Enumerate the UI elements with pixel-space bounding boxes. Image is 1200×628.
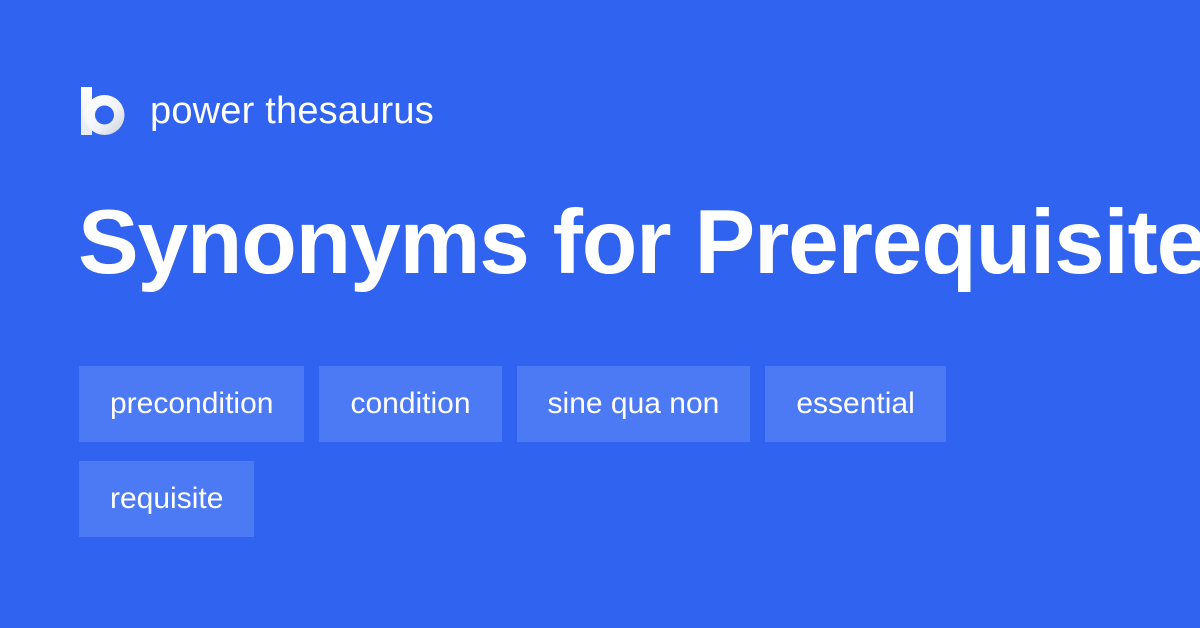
brand-lockup[interactable]: power thesaurus — [80, 83, 434, 139]
synonym-tag[interactable]: condition — [319, 366, 501, 442]
synonym-tag[interactable]: requisite — [79, 461, 254, 537]
power-thesaurus-logo-icon — [80, 87, 126, 135]
synonym-tag-list: precondition condition sine qua non esse… — [79, 366, 1119, 537]
synonym-tag[interactable]: precondition — [79, 366, 304, 442]
share-card: power thesaurus Synonyms for Prerequisit… — [0, 0, 1200, 628]
synonym-tag[interactable]: sine qua non — [517, 366, 751, 442]
synonym-tag[interactable]: essential — [765, 366, 945, 442]
brand-name: power thesaurus — [150, 92, 434, 130]
page-title: Synonyms for Prerequisite — [78, 197, 1138, 288]
